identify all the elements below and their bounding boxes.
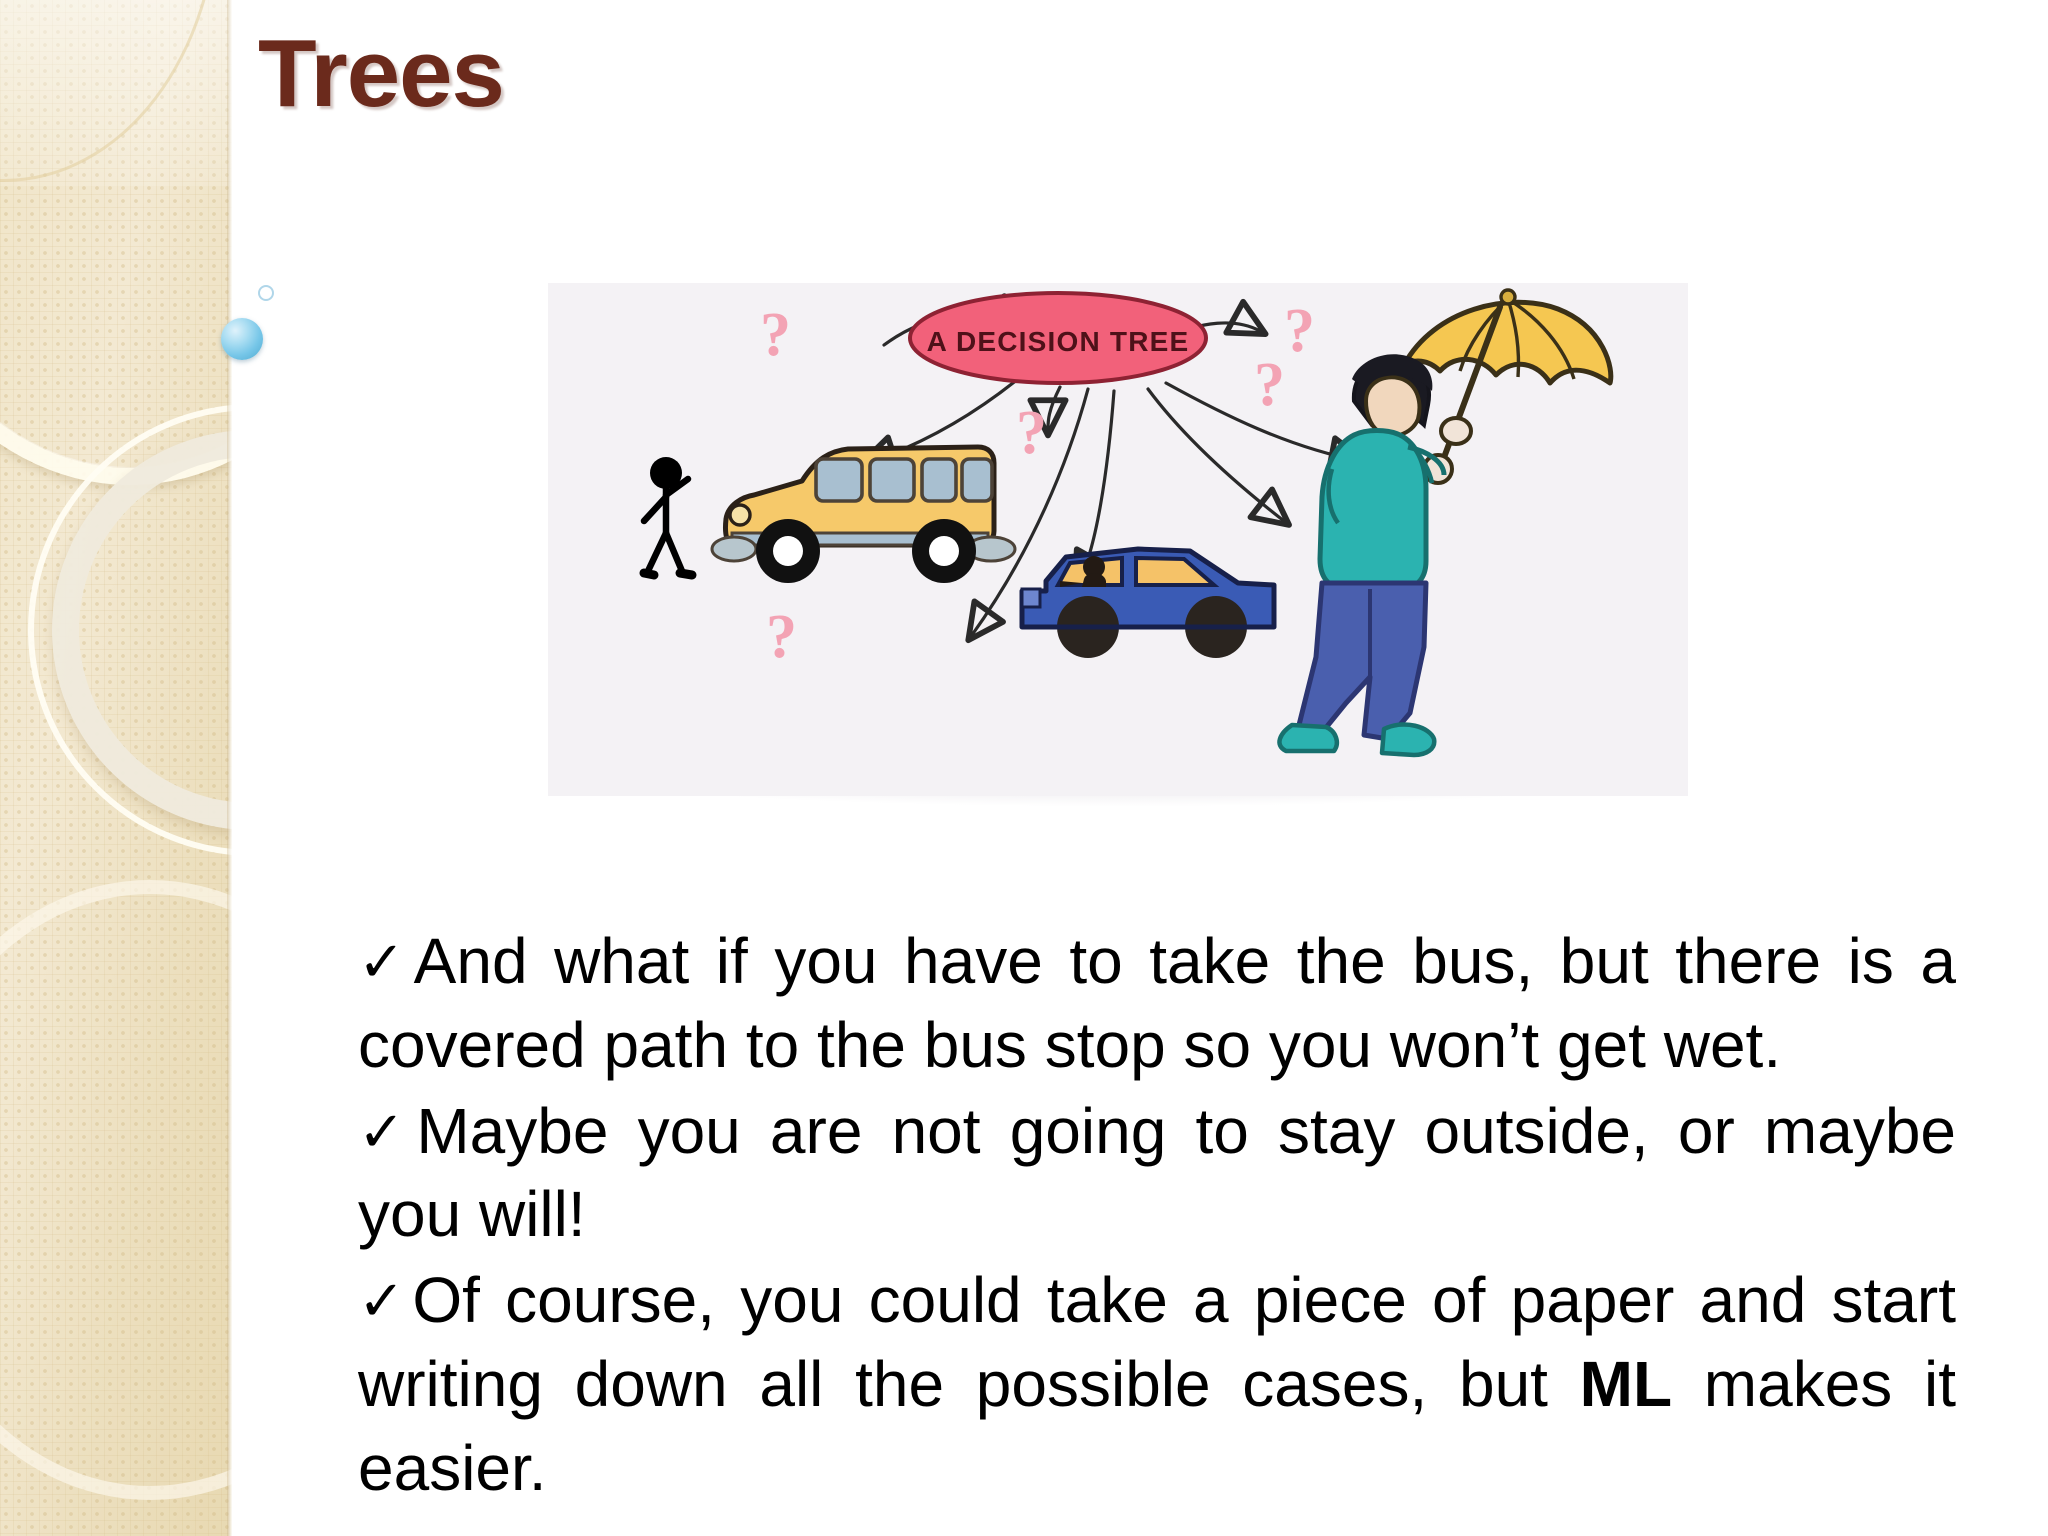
question-mark-upper-right-icon: ? [1254,351,1285,419]
question-mark-bottom-left-icon: ? [766,603,797,671]
bullet-text-1: And what if you have to take the bus, bu… [358,925,1956,1081]
bullet-item-2: ✓Maybe you are not going to stay outside… [358,1090,1956,1258]
small-circle-accent-icon [258,285,274,301]
checkmark-icon-1: ✓ [358,930,414,993]
question-mark-top-right-icon: ? [1284,297,1315,365]
bullet-text-2: Maybe you are not going to stay outside,… [358,1095,1956,1251]
bullet-text-3-bold: ML [1580,1348,1672,1420]
page-title: Trees [258,24,504,125]
presentation-slide: Trees A DECISION [0,0,2048,1536]
sidebar-right-edge [227,0,232,1536]
question-mark-top-left-icon: ? [760,301,791,369]
bus-node-icon [644,447,1015,583]
checkmark-icon-2: ✓ [358,1100,416,1163]
root-node-decision-tree: A DECISION TREE [910,293,1206,383]
decorative-ring-bottom-icon [0,880,232,1500]
decision-tree-figure: A DECISION TREE ? ? ? ? ? [548,283,1688,796]
blue-sphere-accent-icon [221,318,263,360]
bullet-item-3: ✓Of course, you could take a piece of pa… [358,1259,1956,1510]
checkmark-icon-3: ✓ [358,1269,412,1332]
umbrella-person-node-icon [1279,290,1610,755]
question-mark-middle-icon: ? [1016,399,1047,467]
root-node-label: A DECISION TREE [927,326,1190,357]
car-node-icon [1022,549,1274,658]
bullet-item-1: ✓And what if you have to take the bus, b… [358,920,1956,1088]
slide-body-text: ✓And what if you have to take the bus, b… [358,920,1956,1511]
decorative-sidebar [0,0,232,1536]
branch-to-middle-question [1048,387,1060,429]
decorative-ring-large-inner-icon [0,0,219,182]
